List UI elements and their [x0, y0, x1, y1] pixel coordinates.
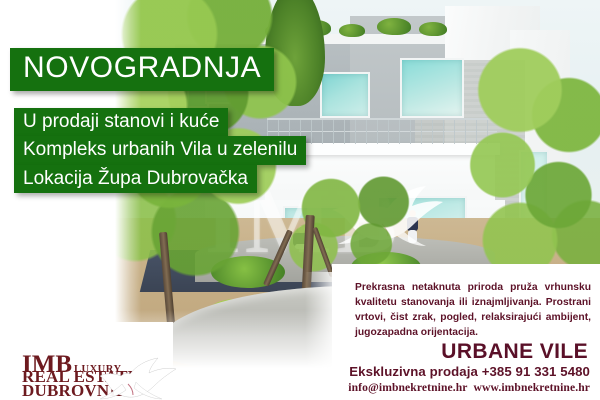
contact-phone-line: Ekskluzivna prodaja +385 91 331 5480 [349, 364, 590, 379]
company-logo[interactable]: IMB LUXURY REAL ESTATE DUBROVNIK [22, 352, 157, 398]
subheadline-line-3: Lokacija Župa Dubrovačka [14, 165, 257, 193]
contact-web-line: info@imbnekretnine.hr www.imbnekretnine.… [348, 381, 590, 394]
subheadline-line-2: Kompleks urbanih Vila u zelenilu [14, 136, 306, 164]
window [320, 72, 370, 118]
roof-plant [419, 22, 447, 36]
roof-plant [339, 24, 365, 37]
subheadline-line-1: U prodaji stanovi i kuće [14, 108, 228, 136]
property-description: Prekrasna netaknuta priroda pruža vrhuns… [355, 281, 591, 341]
contact-website[interactable]: www.imbnekretnine.hr [474, 381, 590, 394]
logo-dove-icon [100, 356, 182, 400]
project-name: URBANE VILE [441, 340, 588, 364]
real-estate-advertisement: IMB [0, 0, 600, 400]
headline-banner: NOVOGRADNJA [10, 48, 274, 91]
tree-foliage-right [450, 40, 600, 290]
roof-plant [377, 18, 411, 35]
contact-email[interactable]: info@imbnekretnine.hr [348, 381, 467, 394]
subheadline-banners: U prodaji stanovi i kuće Kompleks urbani… [14, 108, 306, 193]
